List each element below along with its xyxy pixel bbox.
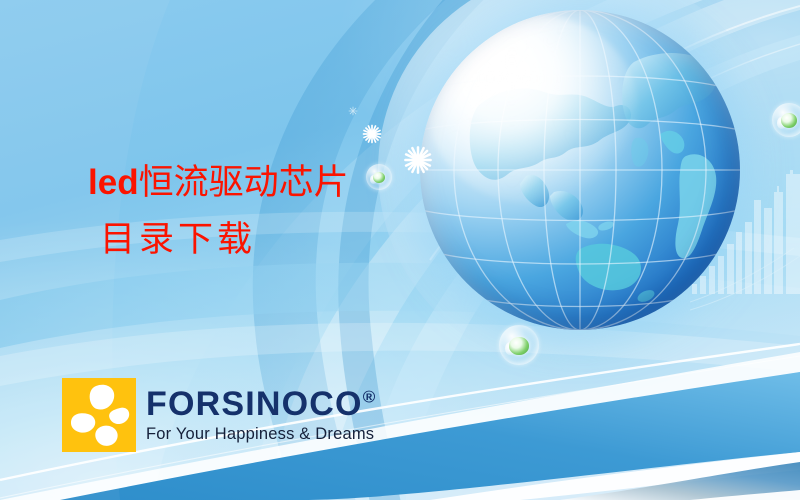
globe-specular-highlight: [428, 14, 638, 204]
headline-line-2: 目录下载: [100, 220, 448, 261]
earth-globe-graphic: [420, 10, 740, 330]
company-logo[interactable]: FORSINOCO® For Your Happiness & Dreams: [62, 378, 375, 452]
logo-text-block: FORSINOCO® For Your Happiness & Dreams: [146, 378, 375, 452]
logo-tagline: For Your Happiness & Dreams: [146, 425, 375, 444]
headline-latin: led: [88, 163, 139, 202]
headline-cjk: 恒流驱动芯片: [139, 163, 349, 203]
flower-pinwheel-icon: [62, 378, 136, 452]
globe-rim-shading: [420, 10, 740, 330]
globe-continents-and-grid: [420, 10, 740, 330]
headline-line-1: led恒流驱动芯片: [88, 162, 448, 204]
logo-wordmark-name: FORSINOCO: [146, 385, 363, 423]
sparkle-tiny-icon: [348, 106, 358, 116]
headline-text: led恒流驱动芯片 目录下载: [88, 162, 448, 262]
logo-mark-flower-icon: [62, 378, 136, 452]
logo-wordmark: FORSINOCO®: [146, 387, 375, 421]
mini-globe-icon: [509, 337, 528, 355]
mini-globe-icon: [781, 113, 797, 128]
promo-banner: led恒流驱动芯片 目录下载 FORSINOCO® For Your Happi…: [0, 0, 800, 500]
city-skyline-silhouette: [690, 170, 800, 315]
registered-trademark-icon: ®: [363, 387, 376, 406]
bubble-right-edge: [772, 103, 800, 137]
sparkle-upper-icon: [362, 124, 382, 144]
bubble-center: [499, 325, 539, 365]
globe-sphere: [420, 10, 740, 330]
